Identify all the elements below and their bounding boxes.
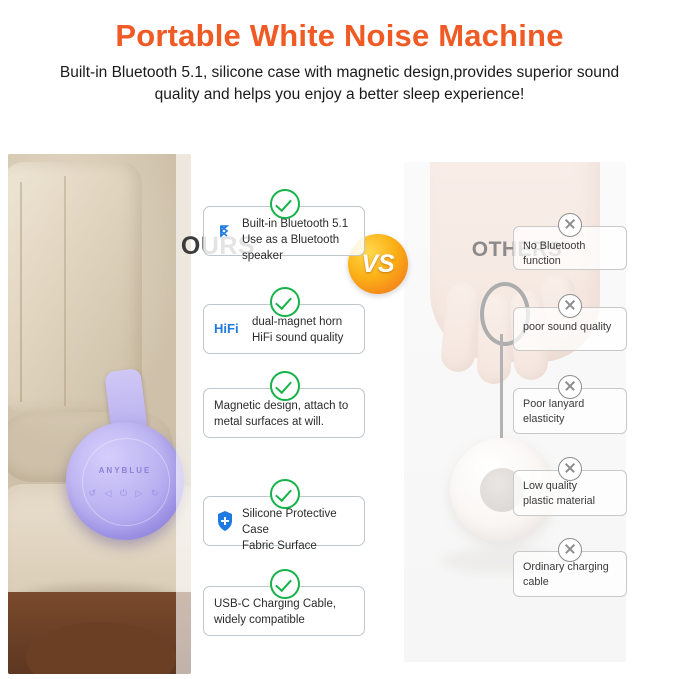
ours-card-2-line2: HiFi sound quality [252, 330, 356, 346]
ours-card-1-line2: Use as a Bluetooth speaker [242, 232, 356, 264]
page-subtitle: Built-in Bluetooth 5.1, silicone case wi… [40, 62, 639, 106]
hifi-icon: HiFi [214, 321, 239, 336]
purple-noise-machine: ANYBLUE ↺ ◁ ⏻ ▷ ↻ [66, 422, 184, 540]
x-icon-4 [558, 457, 582, 481]
check-icon-3 [270, 371, 300, 401]
others-card-3-text: Poor lanyard elasticity [523, 397, 619, 427]
x-icon-2 [558, 294, 582, 318]
others-card-2-text: poor sound quality [523, 320, 619, 335]
ours-card-5-text: USB-C Charging Cable, widely compatible [214, 596, 356, 628]
ours-card-1-text: Built-in Bluetooth 5.1 Use as a Bluetoot… [242, 216, 356, 264]
ours-card-2-text: dual-magnet horn HiFi sound quality [252, 314, 356, 346]
check-icon-2 [270, 287, 300, 317]
x-icon-3 [558, 375, 582, 399]
check-icon-4 [270, 479, 300, 509]
ours-card-5-line2: widely compatible [214, 612, 356, 628]
ours-card-3-text: Magnetic design, attach to metal surface… [214, 398, 356, 430]
others-card-1-text: No Bluetooth function [523, 239, 619, 269]
ours-card-3-line2: metal surfaces at will. [214, 414, 356, 430]
ours-card-1-line1: Built-in Bluetooth 5.1 [242, 216, 356, 232]
check-icon-1 [270, 189, 300, 219]
others-card-4-line2: plastic material [523, 494, 619, 509]
check-icon-5 [270, 569, 300, 599]
chair-seam [20, 182, 22, 402]
others-card-5-line1: Ordinary charging [523, 560, 619, 575]
others-card-5-text: Ordinary charging cable [523, 560, 619, 590]
others-card-4-text: Low quality plastic material [523, 479, 619, 509]
chair-seam [64, 176, 66, 406]
shield-icon [216, 510, 234, 532]
floor [8, 592, 191, 674]
bluetooth-icon [216, 221, 232, 241]
comparison-area: ANYBLUE ↺ ◁ ⏻ ▷ ↻ OURS OTHERS VS [0, 116, 679, 679]
device-brand-text: ANYBLUE [66, 466, 184, 475]
floor-highlight [26, 622, 176, 674]
ours-card-4-line1: Silicone Protective Case [242, 506, 356, 538]
ours-card-4-line2: Fabric Surface [242, 538, 356, 554]
others-card-4-line1: Low quality [523, 479, 619, 494]
x-icon-1 [558, 213, 582, 237]
others-card-3-line1: Poor lanyard [523, 397, 619, 412]
page-title: Portable White Noise Machine [0, 18, 679, 54]
others-card-3-line2: elasticity [523, 412, 619, 427]
x-icon-5 [558, 538, 582, 562]
ours-card-4-text: Silicone Protective Case Fabric Surface [242, 506, 356, 554]
others-card-5-line2: cable [523, 575, 619, 590]
device-controls-icons: ↺ ◁ ⏻ ▷ ↻ [66, 488, 184, 499]
header: Portable White Noise Machine Built-in Bl… [0, 0, 679, 116]
ours-card-2-line1: dual-magnet horn [252, 314, 356, 330]
device-ring [82, 438, 170, 526]
product-comparison-graphic: Portable White Noise Machine Built-in Bl… [0, 0, 679, 679]
